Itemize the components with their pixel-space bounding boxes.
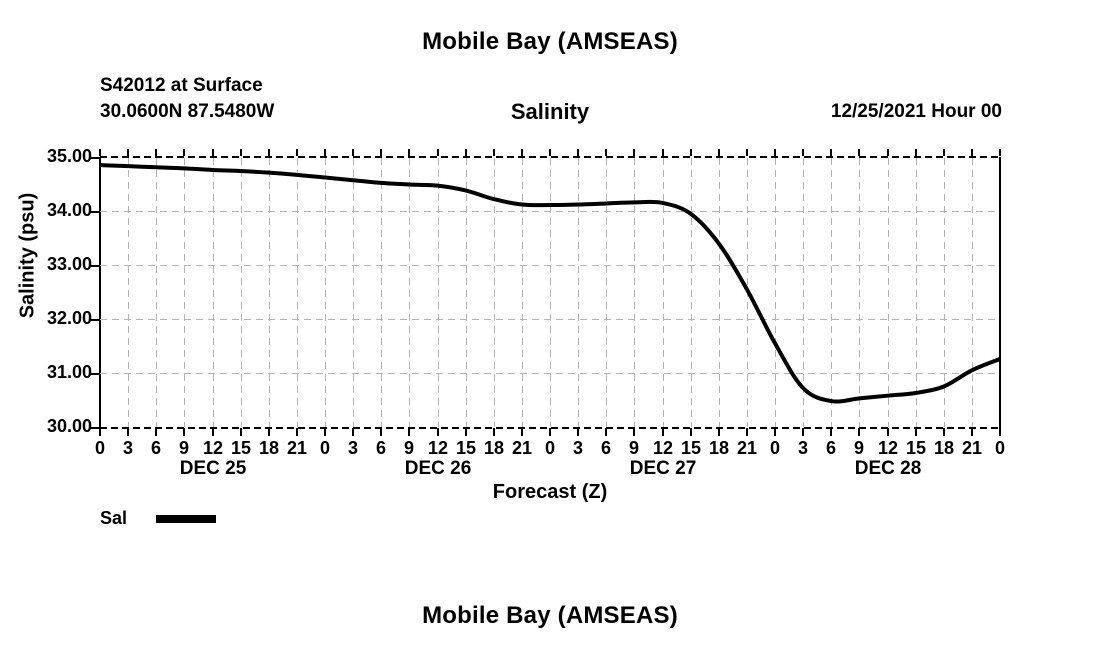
x-tick-mark [408, 428, 410, 436]
x-axis-title: Forecast (Z) [0, 481, 1100, 504]
legend: Sal [100, 508, 216, 529]
y-tick-label: 31.00 [47, 362, 92, 383]
x-tick-mark [155, 428, 157, 436]
x-tick-mark-top [240, 149, 242, 156]
x-tick-mark [268, 428, 270, 436]
x-tick-mark [493, 428, 495, 436]
x-tick-mark [127, 428, 129, 436]
x-axis-day-label: DEC 25 [153, 458, 273, 480]
x-tick-mark [774, 428, 776, 436]
y-tick-mark [91, 211, 100, 213]
x-tick-mark [240, 428, 242, 436]
x-tick-mark-top [605, 149, 607, 156]
x-tick-mark-top [408, 149, 410, 156]
x-tick-mark [887, 428, 889, 436]
x-tick-mark [99, 428, 101, 436]
x-tick-mark-top [183, 149, 185, 156]
salinity-series-line [100, 157, 1000, 427]
y-tick-label: 35.00 [47, 146, 92, 167]
model-run-timestamp: 12/25/2021 Hour 00 [831, 101, 1002, 123]
x-tick-mark-top [662, 149, 664, 156]
x-tick-mark-top [324, 149, 326, 156]
y-tick-mark [91, 157, 100, 159]
y-tick-label: 33.00 [47, 254, 92, 275]
x-tick-mark [324, 428, 326, 436]
x-tick-mark-top [212, 149, 214, 156]
x-tick-mark [662, 428, 664, 436]
y-tick-mark [91, 373, 100, 375]
x-tick-mark-top [887, 149, 889, 156]
x-tick-mark [437, 428, 439, 436]
x-tick-mark-top [830, 149, 832, 156]
x-tick-mark [690, 428, 692, 436]
x-tick-mark-top [127, 149, 129, 156]
x-tick-mark-top [493, 149, 495, 156]
x-tick-mark [183, 428, 185, 436]
x-tick-mark-top [774, 149, 776, 156]
plot-area [100, 157, 1000, 427]
station-label: S42012 at Surface [100, 75, 263, 97]
x-tick-mark [577, 428, 579, 436]
x-tick-mark-top [549, 149, 551, 156]
x-tick-mark-top [690, 149, 692, 156]
x-tick-mark [521, 428, 523, 436]
x-axis-day-label: DEC 27 [603, 458, 723, 480]
x-axis-day-label: DEC 26 [378, 458, 498, 480]
x-tick-mark-top [746, 149, 748, 156]
x-tick-mark [718, 428, 720, 436]
x-tick-mark-top [633, 149, 635, 156]
x-tick-mark-top [802, 149, 804, 156]
x-tick-mark [212, 428, 214, 436]
x-tick-mark [605, 428, 607, 436]
x-tick-mark-top [352, 149, 354, 156]
x-axis-day-label: DEC 28 [828, 458, 948, 480]
x-tick-mark [746, 428, 748, 436]
x-tick-mark-top [943, 149, 945, 156]
y-axis-title: Salinity (psu) [17, 146, 40, 366]
x-tick-mark-top [380, 149, 382, 156]
y-tick-label: 34.00 [47, 200, 92, 221]
x-tick-mark-top [718, 149, 720, 156]
x-tick-mark-top [999, 149, 1001, 156]
x-tick-label: 0 [980, 438, 1020, 459]
x-tick-mark-top [296, 149, 298, 156]
x-tick-mark [858, 428, 860, 436]
x-tick-mark-top [577, 149, 579, 156]
x-tick-mark [380, 428, 382, 436]
x-tick-mark-top [521, 149, 523, 156]
y-tick-mark [91, 319, 100, 321]
x-tick-mark [971, 428, 973, 436]
x-tick-mark-top [99, 149, 101, 156]
footer-title: Mobile Bay (AMSEAS) [0, 602, 1100, 630]
y-tick-label: 32.00 [47, 308, 92, 329]
x-tick-mark [296, 428, 298, 436]
x-tick-mark [633, 428, 635, 436]
x-tick-mark-top [915, 149, 917, 156]
salinity-line-path [100, 165, 1000, 401]
x-tick-mark [943, 428, 945, 436]
x-tick-mark-top [437, 149, 439, 156]
x-tick-mark-top [155, 149, 157, 156]
legend-label-sal: Sal [100, 508, 150, 529]
y-tick-mark [91, 265, 100, 267]
x-tick-mark-top [858, 149, 860, 156]
x-tick-mark [915, 428, 917, 436]
x-tick-mark-top [971, 149, 973, 156]
x-tick-mark-top [465, 149, 467, 156]
y-tick-label: 30.00 [47, 416, 92, 437]
x-tick-mark [830, 428, 832, 436]
x-tick-mark-top [268, 149, 270, 156]
legend-swatch-sal [156, 515, 216, 523]
x-tick-mark [802, 428, 804, 436]
x-tick-mark [465, 428, 467, 436]
x-tick-mark [999, 428, 1001, 436]
x-tick-mark [549, 428, 551, 436]
x-tick-mark [352, 428, 354, 436]
page-title: Mobile Bay (AMSEAS) [0, 28, 1100, 56]
